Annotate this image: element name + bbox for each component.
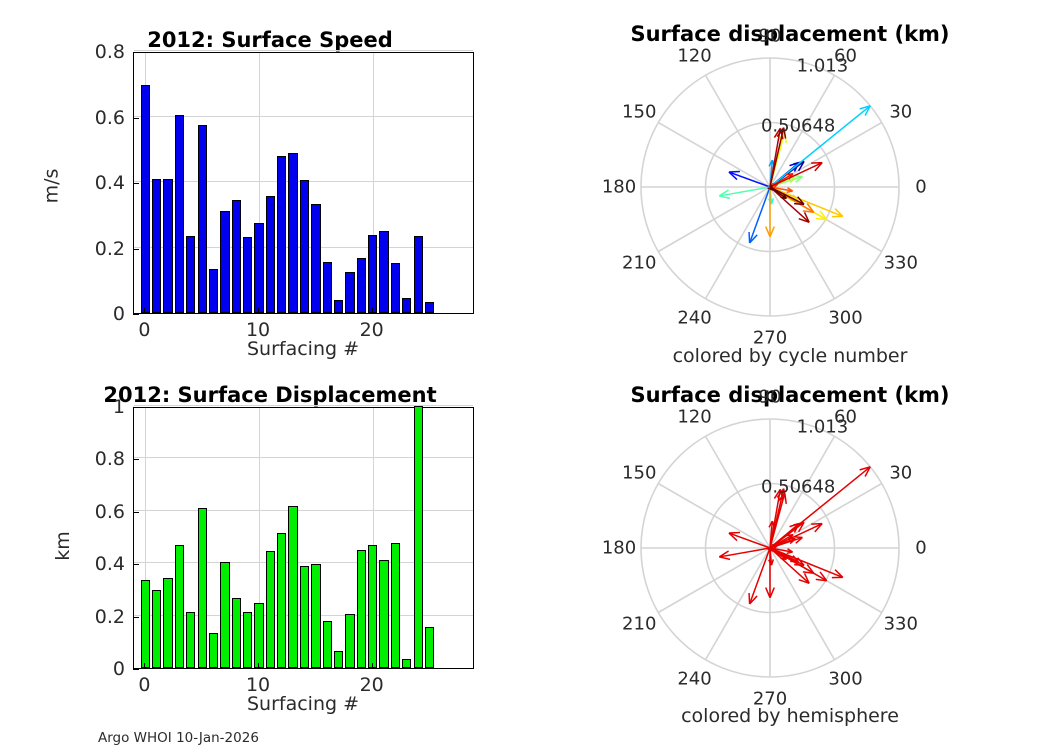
polar-angle-label: 90 (759, 387, 782, 408)
bar (300, 180, 309, 313)
bar (220, 211, 229, 313)
y-axis-tick-label: 0.4 (65, 172, 125, 194)
y-axis-tick-label: 0.8 (65, 448, 125, 470)
plot-area-surface-speed (133, 52, 474, 314)
polar-angle-label: 270 (753, 328, 787, 349)
y-axis-tick-mark (133, 183, 139, 184)
polar-angle-label: 0 (915, 538, 926, 559)
polar-angle-label: 90 (759, 26, 782, 47)
bar (266, 551, 275, 668)
bar (311, 204, 320, 313)
bar (266, 196, 275, 313)
bar (254, 223, 263, 313)
bar (209, 633, 218, 668)
polar-arrow (749, 548, 770, 604)
bar (368, 235, 377, 313)
y-axis-tick-mark (133, 314, 139, 315)
polar-radius-label: 0.50648 (761, 476, 835, 497)
x-axis-tick-label: 10 (246, 319, 270, 341)
polar-arrow (749, 187, 770, 243)
y-axis-tick-label: 0 (65, 658, 125, 680)
x-axis-tick-mark (258, 663, 259, 669)
panel-polar-cycle-number: Surface displacement (km) colored by cyc… (530, 0, 1050, 375)
polar-angle-label: 270 (753, 689, 787, 710)
panel-surface-speed: 2012: Surface Speed m/s Surfacing # 00.2… (0, 0, 520, 375)
x-axis-tick-mark (372, 663, 373, 669)
x-axis-tick-label: 20 (360, 319, 384, 341)
polar-angle-label: 210 (622, 613, 656, 634)
x-axis-tick-label: 10 (246, 674, 270, 696)
bar (186, 236, 195, 313)
x-axis-tick-mark (258, 308, 259, 314)
x-axis-tick-mark (144, 308, 145, 314)
bar (402, 298, 411, 313)
polar-arrow (770, 187, 843, 217)
y-axis-tick-label: 0 (65, 303, 125, 325)
polar-grid (590, 52, 950, 322)
polar-grid (590, 413, 950, 683)
polar-plot-hemisphere (590, 413, 950, 683)
y-axis-tick-mark (133, 617, 139, 618)
y-axis-tick-mark (133, 249, 139, 250)
x-axis-tick-mark (144, 663, 145, 669)
bar (232, 200, 241, 313)
polar-spoke (706, 548, 771, 660)
polar-arrow (729, 533, 770, 548)
bar (391, 263, 400, 313)
polar-angle-label: 120 (677, 46, 711, 67)
y-axis-tick-label: 0.2 (65, 238, 125, 260)
bar (288, 506, 297, 668)
y-axis-tick-mark (133, 669, 139, 670)
polar-arrow (729, 172, 770, 187)
y-axis-tick-mark (133, 564, 139, 565)
polar-caption-hemisphere: colored by hemisphere (570, 705, 1010, 727)
bar (198, 125, 207, 313)
y-axis-tick-label: 0.4 (65, 553, 125, 575)
bar (277, 533, 286, 668)
polar-angle-label: 120 (677, 407, 711, 428)
figure-footer: Argo WHOI 10-Jan-2026 (98, 730, 259, 746)
polar-angle-label: 0 (915, 177, 926, 198)
bar (243, 612, 252, 668)
x-axis-label-speed: Surfacing # (183, 338, 423, 360)
y-axis-tick-label: 0.6 (65, 501, 125, 523)
panel-polar-hemisphere: Surface displacement (km) colored by hem… (530, 375, 1050, 750)
polar-angle-label: 300 (828, 307, 862, 328)
bar (414, 406, 423, 668)
y-axis-tick-mark (133, 512, 139, 513)
polar-angle-label: 210 (622, 252, 656, 273)
bar (425, 302, 434, 313)
bar (323, 262, 332, 313)
bar (379, 231, 388, 313)
polar-angle-label: 30 (889, 101, 912, 122)
grid-line (134, 50, 473, 51)
bar (175, 115, 184, 313)
grid-line (134, 116, 473, 117)
polar-angle-label: 180 (602, 177, 636, 198)
polar-radius-label: 0.50648 (761, 115, 835, 136)
polar-arrow (770, 548, 843, 578)
bar (402, 659, 411, 668)
bar (198, 508, 207, 668)
y-axis-label-speed: m/s (40, 169, 62, 204)
figure-canvas: 2012: Surface Speed m/s Surfacing # 00.2… (0, 0, 1050, 750)
y-axis-tick-label: 0.6 (65, 107, 125, 129)
bar (232, 598, 241, 668)
bar (209, 269, 218, 313)
bar (186, 612, 195, 668)
polar-radius-label: 1.013 (797, 56, 849, 77)
bar (334, 300, 343, 313)
polar-angle-label: 330 (884, 252, 918, 273)
y-axis-tick-label: 0.2 (65, 606, 125, 628)
bar (379, 560, 388, 668)
y-axis-tick-label: 0.8 (65, 41, 125, 63)
polar-spoke (658, 123, 770, 188)
bar (175, 545, 184, 668)
bar (243, 237, 252, 313)
bar (277, 156, 286, 313)
bar (152, 590, 161, 668)
bar (323, 621, 332, 668)
bar (425, 627, 434, 668)
polar-angle-label: 150 (622, 101, 656, 122)
polar-angle-label: 240 (677, 668, 711, 689)
bar (254, 603, 263, 668)
bar (300, 566, 309, 668)
bar (357, 258, 366, 313)
bar (414, 236, 423, 313)
polar-angle-label: 150 (622, 462, 656, 483)
bar (141, 580, 150, 668)
polar-angle-label: 300 (828, 668, 862, 689)
polar-arrow (719, 548, 770, 559)
polar-caption-cycle: colored by cycle number (570, 345, 1010, 367)
polar-spoke (706, 187, 771, 299)
polar-angle-label: 240 (677, 307, 711, 328)
bar (368, 545, 377, 668)
plot-area-surface-displacement (133, 407, 474, 669)
bar (345, 614, 354, 668)
x-axis-label-displacement: Surfacing # (183, 693, 423, 715)
y-axis-tick-mark (133, 459, 139, 460)
polar-spoke (658, 187, 770, 252)
bar (141, 85, 150, 313)
polar-spoke (658, 548, 770, 613)
bar (357, 550, 366, 668)
x-axis-tick-label: 0 (138, 319, 150, 341)
y-axis-tick-mark (133, 52, 139, 53)
polar-angle-label: 30 (889, 462, 912, 483)
x-axis-tick-label: 20 (360, 674, 384, 696)
chart-title-polar-cycle: Surface displacement (km) (560, 22, 1020, 46)
y-axis-tick-label: 1 (65, 396, 125, 418)
polar-angle-label: 330 (884, 613, 918, 634)
chart-title-surface-speed: 2012: Surface Speed (100, 28, 440, 52)
bar (220, 562, 229, 668)
polar-plot-cycle-number (590, 52, 950, 322)
bar (391, 543, 400, 668)
bar (163, 578, 172, 668)
bar (163, 179, 172, 313)
polar-arrow (719, 187, 770, 198)
bar (345, 272, 354, 313)
polar-angle-label: 180 (602, 538, 636, 559)
x-axis-tick-mark (372, 308, 373, 314)
bar (311, 564, 320, 668)
y-axis-tick-mark (133, 407, 139, 408)
bar (152, 179, 161, 313)
polar-radius-label: 1.013 (797, 417, 849, 438)
y-axis-tick-mark (133, 118, 139, 119)
bar (334, 651, 343, 668)
bar (288, 153, 297, 313)
polar-spoke (658, 484, 770, 549)
chart-title-polar-hemisphere: Surface displacement (km) (560, 383, 1020, 407)
x-axis-tick-label: 0 (138, 674, 150, 696)
panel-surface-displacement: 2012: Surface Displacement km Surfacing … (0, 375, 520, 750)
